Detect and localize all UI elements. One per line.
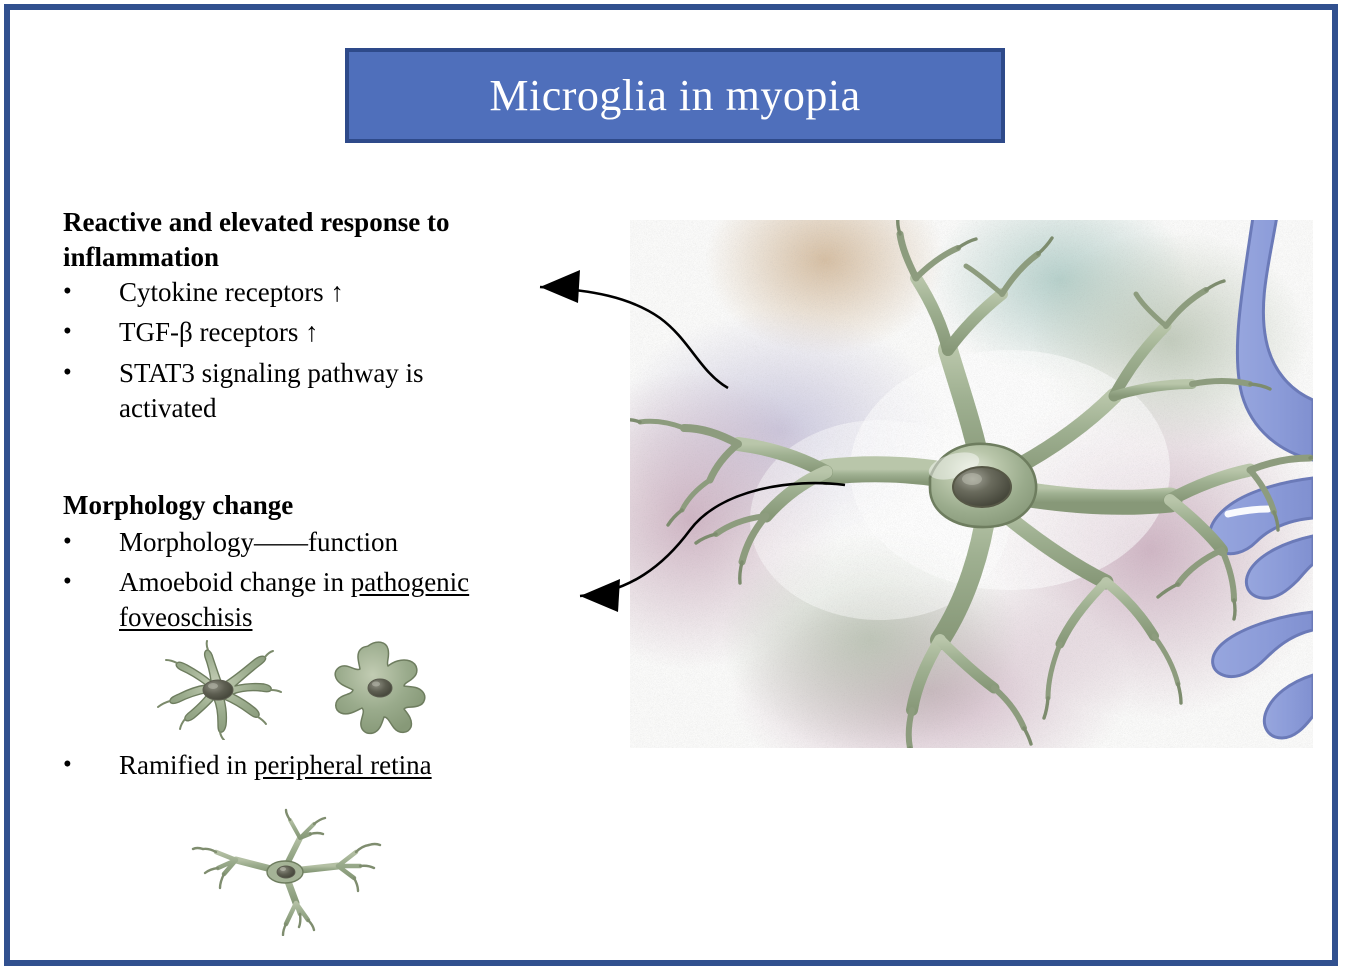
microglia-illustration xyxy=(630,220,1313,748)
bullet-label: Morphology——function xyxy=(119,525,543,560)
bullet-stat3-pathway: • STAT3 signaling pathway is activated xyxy=(63,356,493,426)
bullet-amoeboid-change: • Amoeboid change in pathogenic foveosch… xyxy=(63,565,553,635)
bullet-marker: • xyxy=(63,525,119,560)
bullet-marker: • xyxy=(63,565,119,635)
ramified-microglia-icon xyxy=(188,808,408,936)
section-heading-morphology: Morphology change xyxy=(63,488,533,523)
bullet-marker: • xyxy=(63,748,119,783)
title-banner: Microglia in myopia xyxy=(345,48,1005,143)
bullet-label-plain: Amoeboid change in xyxy=(119,567,351,597)
bullet-label: Ramified in peripheral retina xyxy=(119,748,553,783)
bullet-tgf-beta-receptors: • TGF-β receptors ↑ xyxy=(63,315,543,350)
bullet-label-underlined: peripheral retina xyxy=(254,750,432,780)
bullet-label: TGF-β receptors ↑ xyxy=(119,315,543,350)
bullet-label-plain: Ramified in xyxy=(119,750,254,780)
amoeboid-microglia-icon xyxy=(322,638,434,738)
bullet-label: STAT3 signaling pathway is activated xyxy=(119,356,493,426)
bullet-label: Cytokine receptors ↑ xyxy=(119,275,543,310)
bullet-marker: • xyxy=(63,315,119,350)
page-title: Microglia in myopia xyxy=(489,74,860,118)
bullet-cytokine-receptors: • Cytokine receptors ↑ xyxy=(63,275,543,310)
section-heading-inflammation: Reactive and elevated response to inflam… xyxy=(63,205,533,274)
bullet-label: Amoeboid change in pathogenic foveoschis… xyxy=(119,565,553,635)
bullet-morphology-function: • Morphology——function xyxy=(63,525,543,560)
bullet-marker: • xyxy=(63,275,119,310)
bullet-marker: • xyxy=(63,356,119,426)
bullet-ramified-peripheral: • Ramified in peripheral retina xyxy=(63,748,553,783)
microglia-illustration-panel xyxy=(630,220,1313,748)
slide-canvas: Microglia in myopia Reactive and elevate… xyxy=(0,0,1350,978)
ramified-microglia-icon xyxy=(138,640,308,740)
